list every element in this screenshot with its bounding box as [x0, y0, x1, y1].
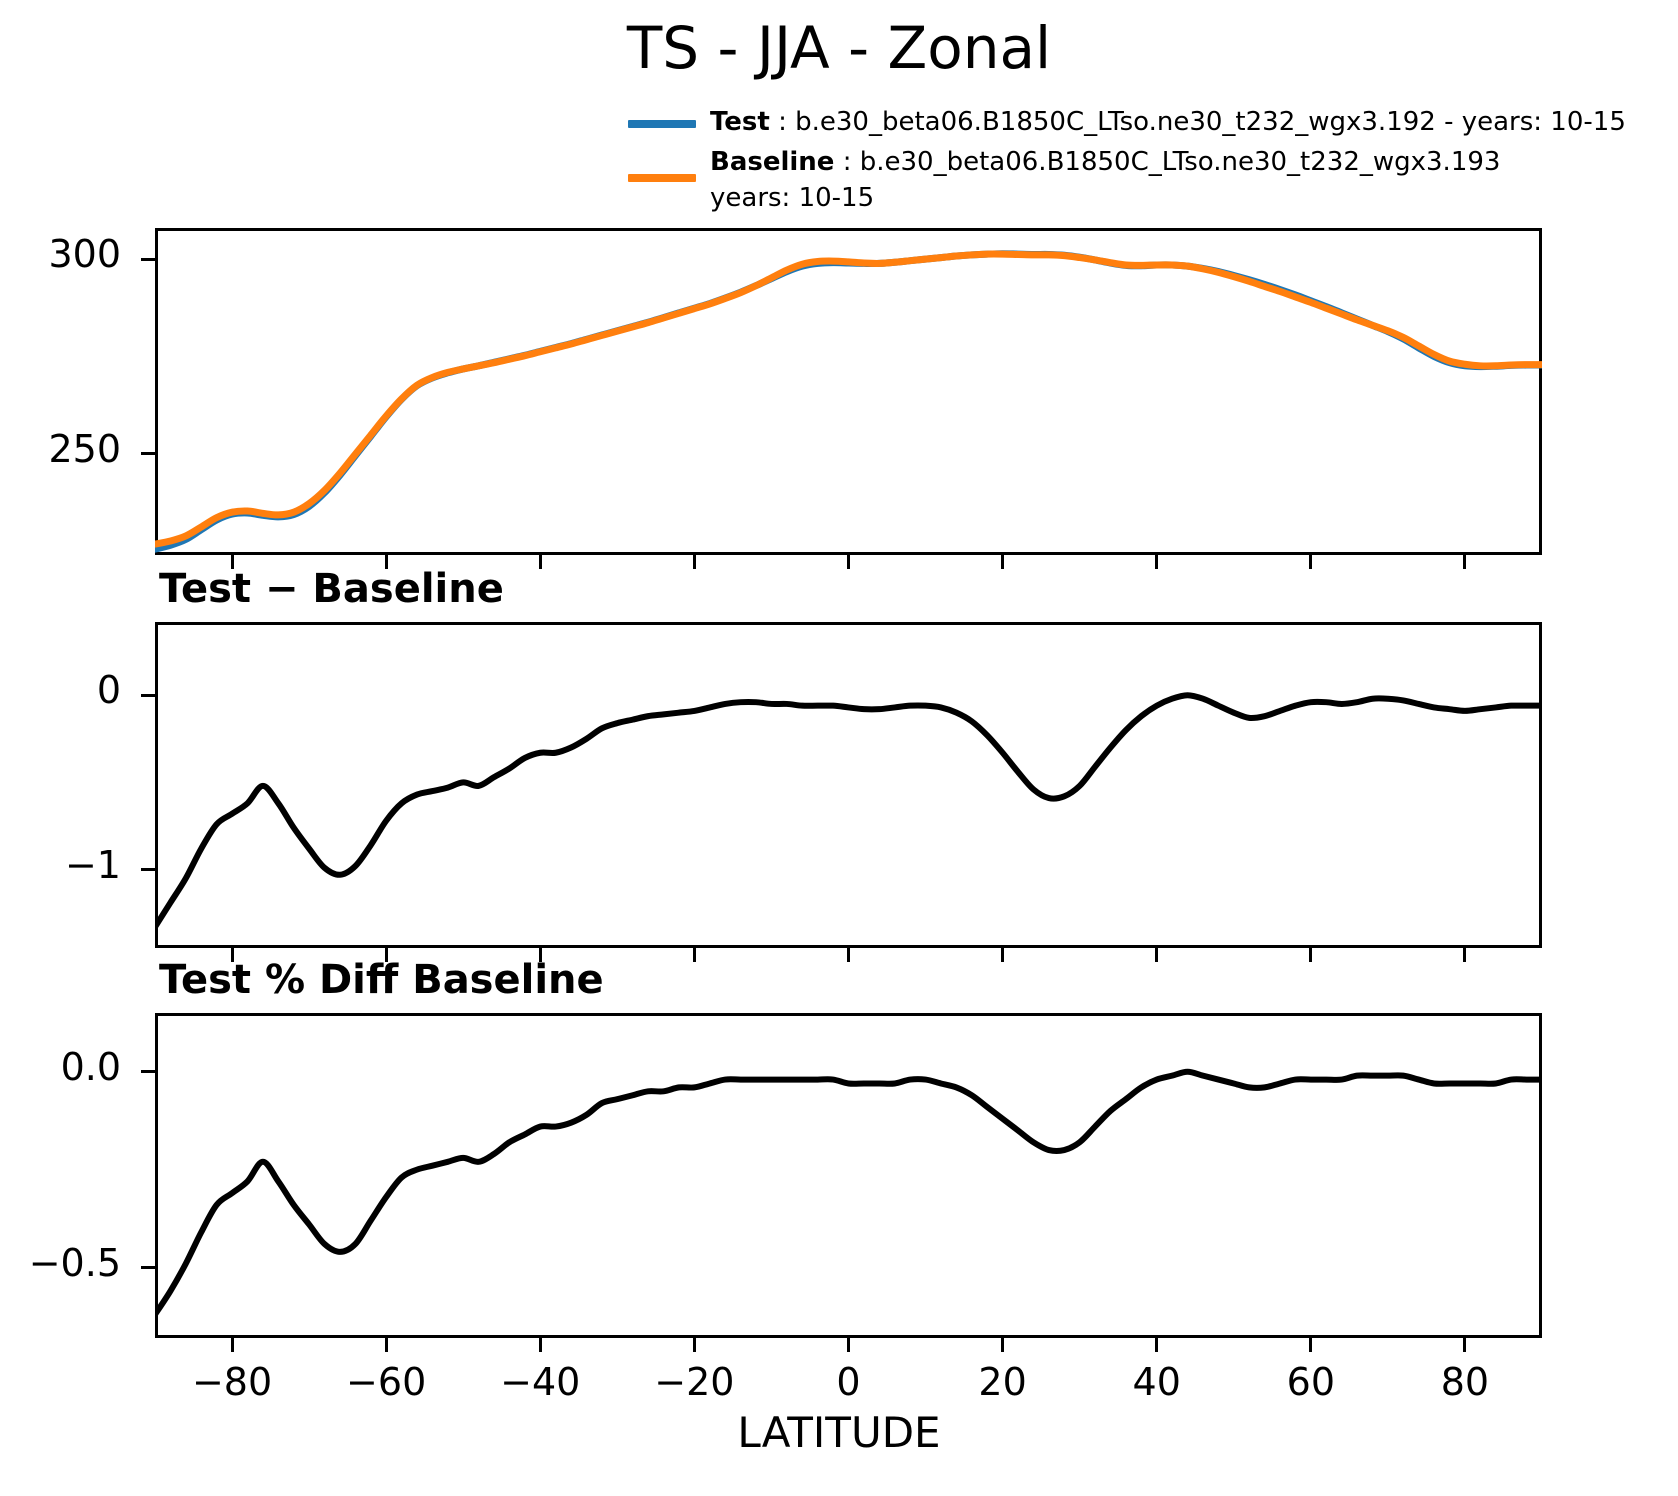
zonal-mean-figure: TS - JJA - Zonal Test : b.e30_beta06.B18…: [0, 0, 1678, 1496]
x-axis-label: LATITUDE: [0, 1408, 1678, 1457]
curves-test-percent-diff-baseline: [0, 0, 1678, 1496]
series-line-test-diff-baseline: [155, 1072, 1542, 1315]
